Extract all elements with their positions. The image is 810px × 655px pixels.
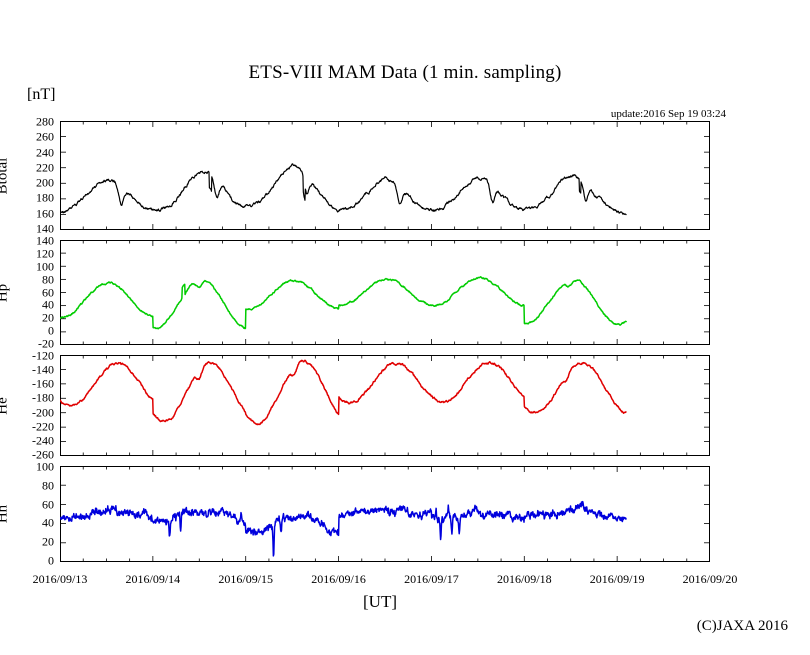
y-tick-label: 280 [36, 115, 54, 130]
y-tick-label-group: -120-140-160-180-200-220-240-260 [20, 355, 54, 456]
x-tick-label: 2016/09/20 [683, 572, 738, 587]
plot-panel-hn: Hn100806040200 [60, 466, 710, 562]
y-tick-label: 260 [36, 130, 54, 145]
y-tick-label: 60 [42, 497, 54, 512]
data-series-hn [60, 502, 626, 556]
plot-area-hn [60, 466, 710, 562]
y-tick-label: -120 [32, 349, 54, 364]
x-tick-label: 2016/09/15 [218, 572, 273, 587]
axis-ticks [60, 121, 710, 230]
y-tick-label: 100 [36, 460, 54, 475]
page-title: ETS-VIII MAM Data (1 min. sampling) [0, 62, 810, 84]
copyright-notice: (C)JAXA 2016 [697, 618, 788, 635]
plot-area-hp [60, 240, 710, 345]
y-tick-label-group: 280260240220200180160140 [20, 121, 54, 230]
y-axis-title-text: Btotal [0, 157, 12, 194]
y-tick-label: -180 [32, 391, 54, 406]
y-axis-title-btotal: Btotal [0, 121, 14, 230]
x-tick-label: 2016/09/17 [404, 572, 459, 587]
x-axis-label: [UT] [0, 592, 760, 612]
plot-panel-he: He-120-140-160-180-200-220-240-260 [60, 355, 710, 456]
y-tick-label: -240 [32, 433, 54, 448]
chart-canvas: ETS-VIII MAM Data (1 min. sampling) [nT]… [0, 0, 810, 655]
x-tick-label: 2016/09/18 [497, 572, 552, 587]
y-axis-title-hp: Hp [0, 240, 14, 345]
update-timestamp: update:2016 Sep 19 03:24 [611, 108, 726, 120]
y-axis-title-text: Hp [0, 283, 12, 301]
y-tick-label: 240 [36, 145, 54, 160]
y-axis-title-hn: Hn [0, 466, 14, 562]
y-axis-title-text: He [0, 397, 12, 415]
y-tick-label: 80 [42, 478, 54, 493]
plot-panel-hp: Hp140120100806040200-20 [60, 240, 710, 345]
data-series-he [60, 360, 626, 424]
plot-panel-btotal: Btotal280260240220200180160140 [60, 121, 710, 230]
y-tick-label: 0 [48, 554, 54, 569]
y-axis-title-text: Hn [0, 505, 12, 523]
y-tick-label: 20 [42, 535, 54, 550]
x-tick-label: 2016/09/13 [33, 572, 88, 587]
data-series-btotal [60, 164, 626, 215]
plot-area-btotal [60, 121, 710, 230]
y-tick-label: 40 [42, 516, 54, 531]
y-tick-label: -200 [32, 405, 54, 420]
y-unit-label: [nT] [27, 86, 55, 104]
x-tick-label: 2016/09/14 [126, 572, 181, 587]
x-tick-label: 2016/09/19 [590, 572, 645, 587]
y-tick-label: -140 [32, 363, 54, 378]
data-series-hp [60, 277, 626, 329]
y-tick-label: 200 [36, 176, 54, 191]
y-tick-label: 160 [36, 206, 54, 221]
plot-area-he [60, 355, 710, 456]
y-tick-label: 180 [36, 191, 54, 206]
y-tick-label: -160 [32, 377, 54, 392]
y-axis-title-he: He [0, 355, 14, 456]
y-tick-label-group: 140120100806040200-20 [20, 240, 54, 345]
y-tick-label: -220 [32, 419, 54, 434]
y-tick-label-group: 100806040200 [20, 466, 54, 562]
x-tick-label: 2016/09/16 [311, 572, 366, 587]
y-tick-label: 220 [36, 160, 54, 175]
x-axis-tick-labels: 2016/09/132016/09/142016/09/152016/09/16… [0, 572, 810, 592]
